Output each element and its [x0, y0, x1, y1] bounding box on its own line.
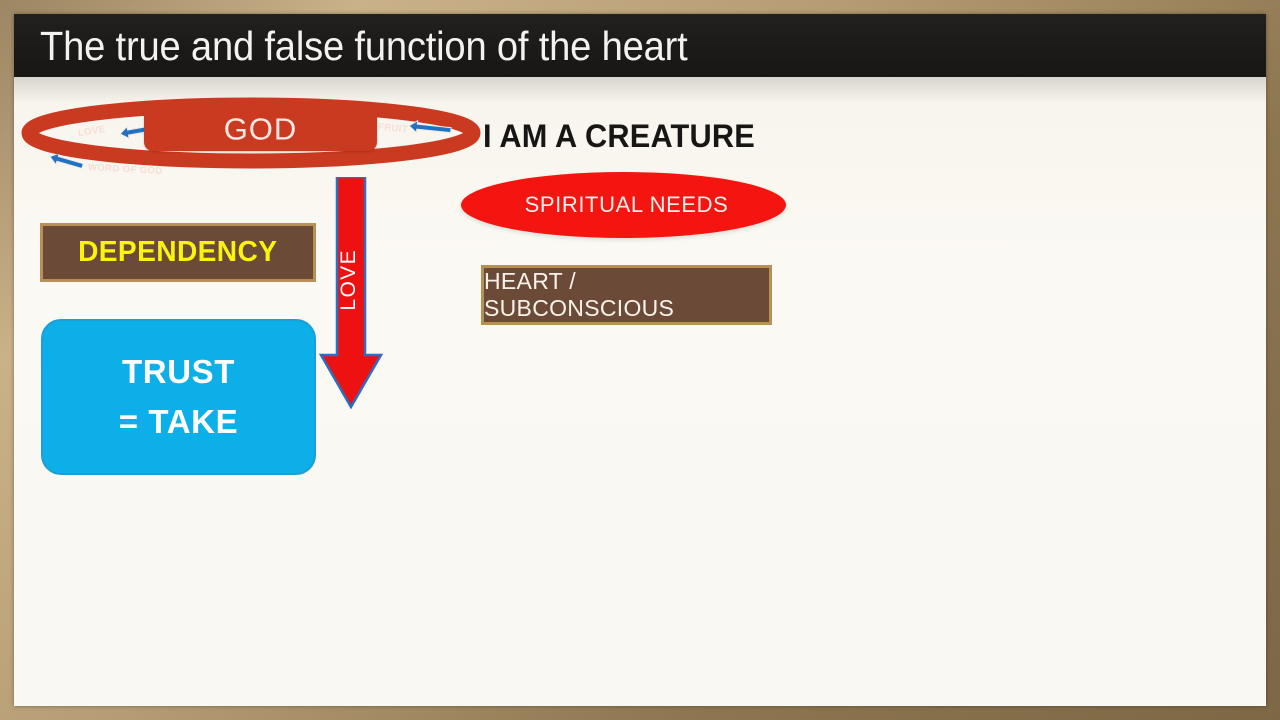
trust-label-line2: = TAKE [119, 397, 238, 447]
god-box-label: GOD [144, 113, 377, 144]
fruit-ring-arrow-icon [407, 120, 453, 141]
dependency-label: DEPENDENCY [78, 236, 277, 269]
trust-label-line1: TRUST [122, 347, 235, 397]
trust-take-box[interactable]: TRUST = TAKE [41, 319, 316, 475]
page-title: The true and false function of the heart [40, 18, 688, 74]
slide-canvas: The true and false function of the heart [14, 14, 1266, 706]
slide-outer-frame: The true and false function of the heart [0, 0, 1280, 720]
slide-title-bar: The true and false function of the heart [14, 14, 1266, 77]
heart-subconscious-label: HEART / SUBCONSCIOUS [484, 268, 769, 322]
love-down-arrow[interactable]: LOVE [317, 177, 385, 409]
spiritual-needs-label: SPIRITUAL NEEDS [525, 192, 729, 218]
spiritual-needs-ellipse[interactable]: SPIRITUAL NEEDS [461, 172, 786, 238]
dependency-box[interactable]: DEPENDENCY [40, 223, 316, 282]
god-box[interactable]: GOD [144, 106, 377, 151]
creature-heading: I AM A CREATURE [483, 114, 755, 158]
heart-subconscious-box[interactable]: HEART / SUBCONSCIOUS [481, 265, 772, 325]
